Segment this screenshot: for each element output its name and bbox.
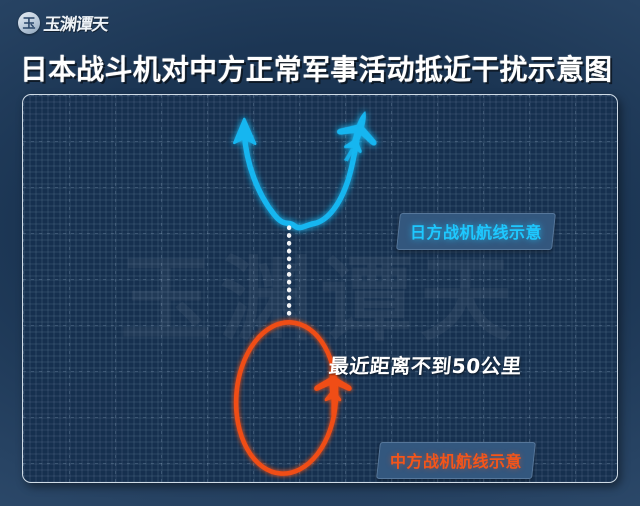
infographic-root: 玉 玉渊谭天 日本战斗机对中方正常军事活动抵近干扰示意图 玉渊谭天: [0, 0, 640, 506]
japan-flight-path: [234, 119, 357, 228]
japan-fighter-jet-icon: [329, 105, 385, 169]
label-japan-route-text: 日方战机航线示意: [410, 219, 542, 243]
logo-text: 玉渊谭天: [42, 10, 110, 35]
china-flight-path: [231, 319, 341, 477]
label-china-route-text: 中方战机航线示意: [390, 448, 522, 472]
label-japan-route: 日方战机航线示意: [396, 213, 556, 250]
diagram-panel: 玉渊谭天: [22, 94, 618, 483]
brand-logo: 玉 玉渊谭天: [18, 10, 108, 35]
label-closest-distance: 最近距离不到50公里: [328, 350, 523, 379]
flight-path-diagram: [23, 95, 617, 483]
page-title: 日本战斗机对中方正常军事活动抵近干扰示意图: [20, 48, 613, 88]
logo-mark-icon: 玉: [18, 12, 40, 34]
label-china-route: 中方战机航线示意: [376, 442, 536, 479]
